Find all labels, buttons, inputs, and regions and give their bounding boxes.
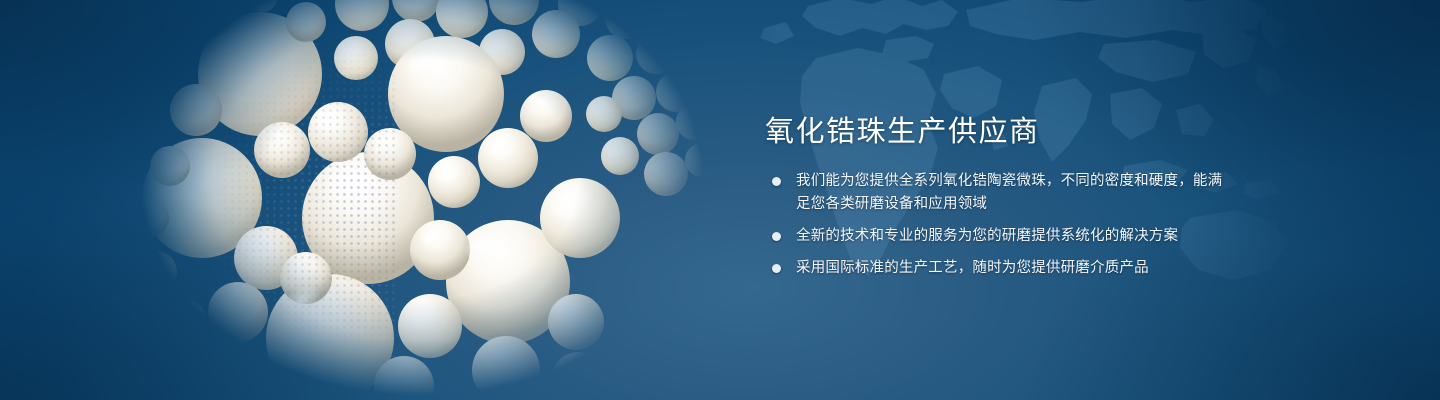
filled-circle-bullet-icon	[772, 264, 781, 273]
bullet-item: 采用国际标准的生产工艺，随时为您提供研磨介质产品	[770, 257, 1230, 280]
filled-circle-bullet-icon	[772, 232, 781, 241]
hero-banner: 氧化锆珠生产供应商 我们能为您提供全系列氧化锆陶瓷微珠，不同的密度和硬度，能满足…	[0, 0, 1440, 400]
filled-circle-bullet-icon	[772, 177, 781, 186]
bullet-text: 采用国际标准的生产工艺，随时为您提供研磨介质产品	[796, 260, 1149, 276]
bullet-text: 我们能为您提供全系列氧化锆陶瓷微珠，不同的密度和硬度，能满足您各类研磨设备和应用…	[796, 173, 1222, 212]
banner-content: 氧化锆珠生产供应商 我们能为您提供全系列氧化锆陶瓷微珠，不同的密度和硬度，能满足…	[765, 0, 1235, 400]
bullet-text: 全新的技术和专业的服务为您的研磨提供系统化的解决方案	[796, 228, 1178, 244]
banner-bullet-list: 我们能为您提供全系列氧化锆陶瓷微珠，不同的密度和硬度，能满足您各类研磨设备和应用…	[770, 170, 1230, 280]
bullet-item: 全新的技术和专业的服务为您的研磨提供系统化的解决方案	[770, 225, 1230, 248]
banner-headline: 氧化锆珠生产供应商	[765, 108, 1040, 150]
bullet-item: 我们能为您提供全系列氧化锆陶瓷微珠，不同的密度和硬度，能满足您各类研磨设备和应用…	[770, 170, 1230, 216]
